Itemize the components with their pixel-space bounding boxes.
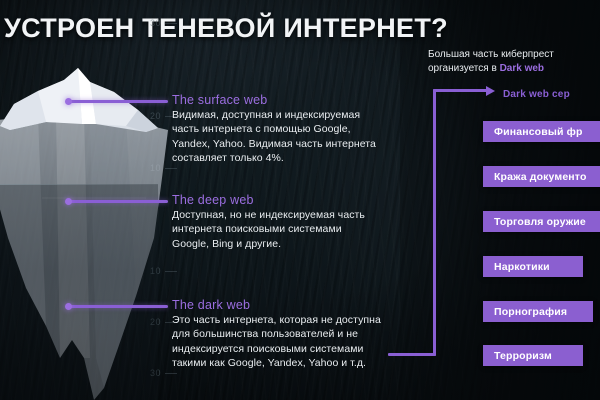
ruler-tick: 30 bbox=[150, 18, 161, 28]
intro-line-2: организуется в bbox=[428, 63, 500, 74]
service-item-pornography[interactable]: Порнография bbox=[483, 301, 593, 322]
dark-web-heading-text: Dark web bbox=[503, 89, 552, 100]
layer-body-deep: Доступная, но не индексируемая часть инт… bbox=[172, 208, 377, 251]
service-label: Финансовый фр bbox=[483, 126, 583, 138]
connector-top-segment bbox=[433, 89, 487, 92]
layer-block-surface: The surface web Видимая, доступная и инд… bbox=[172, 93, 377, 166]
intro-highlight: Dark web bbox=[500, 63, 544, 74]
service-item-financial-fraud[interactable]: Финансовый фр bbox=[483, 121, 600, 142]
service-item-drugs[interactable]: Наркотики bbox=[483, 256, 583, 277]
leader-dot-surface bbox=[65, 98, 72, 105]
service-label: Наркотики bbox=[483, 261, 550, 273]
leader-line-surface bbox=[70, 100, 168, 103]
service-label: Торговля оружие bbox=[483, 216, 586, 228]
leader-line-dark bbox=[70, 305, 168, 308]
waterline bbox=[0, 184, 158, 185]
page-title: УСТРОЕН ТЕНЕВОЙ ИНТЕРНЕТ? bbox=[4, 11, 424, 45]
connector-arrow-icon bbox=[486, 86, 495, 96]
service-item-arms-trade[interactable]: Торговля оружие bbox=[483, 211, 600, 232]
layer-body-surface: Видимая, доступная и индексируемая часть… bbox=[172, 108, 377, 166]
dark-web-heading-suffix: сер bbox=[552, 89, 570, 100]
connector-vertical-segment bbox=[433, 89, 436, 356]
connector-bottom-segment bbox=[388, 353, 436, 356]
leader-dot-dark bbox=[65, 303, 72, 310]
infographic-canvas: УСТРОЕН ТЕНЕВОЙ ИНТЕРНЕТ? 30 20 10 10 20… bbox=[0, 0, 600, 400]
layer-block-deep: The deep web Доступная, но не индексируе… bbox=[172, 193, 377, 251]
service-item-document-theft[interactable]: Кражa документо bbox=[483, 166, 600, 187]
layer-heading-deep: The deep web bbox=[172, 193, 377, 207]
intro-line-1: Большая часть киберпрест bbox=[428, 49, 554, 60]
dark-web-services-heading: Dark web сер bbox=[503, 84, 570, 102]
leader-line-deep bbox=[70, 200, 168, 203]
layer-heading-dark: The dark web bbox=[172, 298, 382, 312]
layer-heading-surface: The surface web bbox=[172, 93, 377, 107]
service-label: Кражa документо bbox=[483, 171, 587, 183]
leader-dot-deep bbox=[65, 198, 72, 205]
ruler-tick-line bbox=[165, 23, 177, 24]
service-item-terrorism[interactable]: Терроризм bbox=[483, 345, 583, 366]
service-label: Порнография bbox=[483, 306, 567, 318]
layer-body-dark: Это часть интернета, которая не доступна… bbox=[172, 313, 382, 371]
layer-block-dark: The dark web Это часть интернета, котора… bbox=[172, 298, 382, 371]
intro-paragraph: Большая часть киберпрест организуется в … bbox=[428, 48, 600, 75]
service-label: Терроризм bbox=[483, 350, 552, 362]
iceberg-illustration bbox=[0, 58, 171, 400]
